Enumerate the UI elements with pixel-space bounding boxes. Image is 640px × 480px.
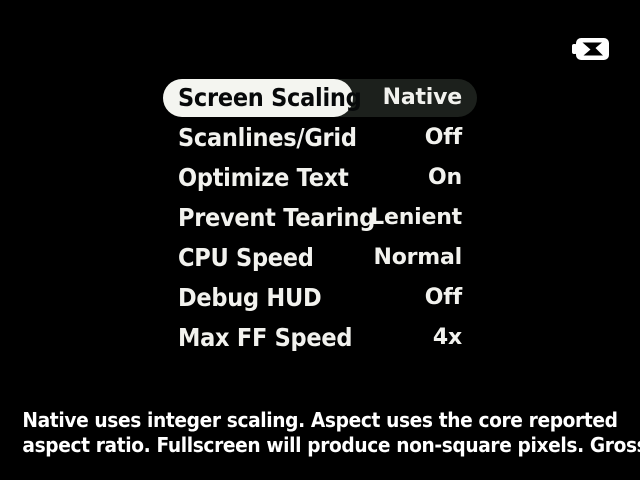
settings-screen: Screen Scaling Native Scanlines/Grid Off… <box>0 0 640 480</box>
battery-charging-icon <box>572 38 610 60</box>
menu-row-label: CPU Speed <box>178 239 314 277</box>
menu-row-scanlines-grid[interactable]: Scanlines/Grid Off <box>0 119 640 159</box>
help-text-line-2: aspect ratio. Fullscreen will produce no… <box>22 433 617 458</box>
menu-row-value[interactable]: Off <box>300 279 462 317</box>
menu-row-debug-hud[interactable]: Debug HUD Off <box>0 279 640 319</box>
menu-row-screen-scaling[interactable]: Screen Scaling Native <box>0 79 640 119</box>
menu-row-value[interactable]: Native <box>300 79 462 117</box>
status-bar <box>0 0 640 76</box>
menu-row-cpu-speed[interactable]: CPU Speed Normal <box>0 239 640 279</box>
menu-row-optimize-text[interactable]: Optimize Text On <box>0 159 640 199</box>
menu-row-prevent-tearing[interactable]: Prevent Tearing Lenient <box>0 199 640 239</box>
menu-row-max-ff-speed[interactable]: Max FF Speed 4x <box>0 319 640 359</box>
menu-row-value[interactable]: Normal <box>300 239 462 277</box>
settings-menu[interactable]: Screen Scaling Native Scanlines/Grid Off… <box>0 79 640 359</box>
help-text: Native uses integer scaling. Aspect uses… <box>0 408 640 458</box>
help-text-line-1: Native uses integer scaling. Aspect uses… <box>22 408 617 433</box>
menu-row-value[interactable]: 4x <box>300 319 462 357</box>
menu-row-value[interactable]: On <box>300 159 462 197</box>
menu-row-value[interactable]: Off <box>300 119 462 157</box>
menu-row-value[interactable]: Lenient <box>300 199 462 237</box>
